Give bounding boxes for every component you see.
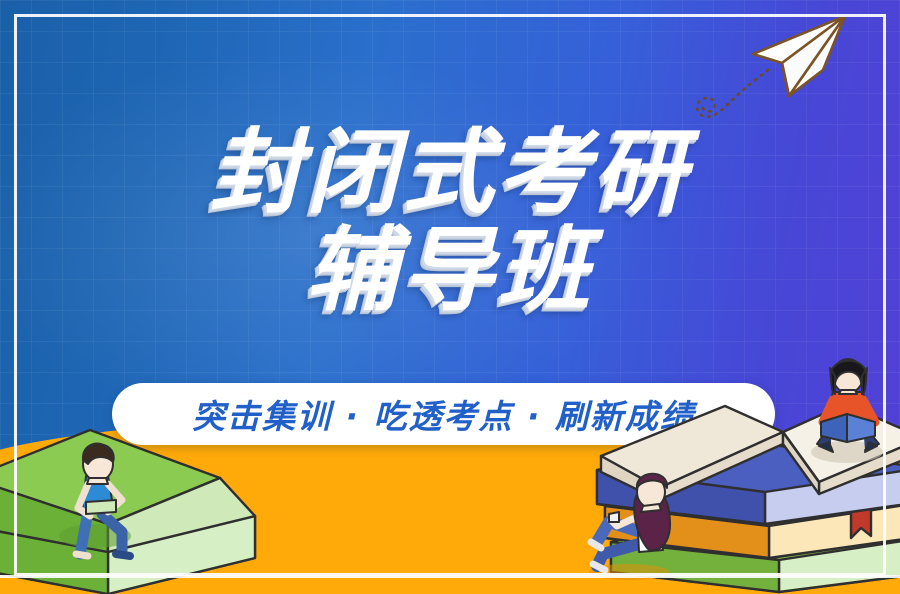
title-line-2: 辅导班 [0,224,900,318]
poster-canvas: 封闭式考研 辅导班 突击集训 · 吃透考点 · 刷新成绩 [0,0,900,594]
ground-baseline [0,575,900,578]
poster-title: 封闭式考研 辅导班 [0,126,900,318]
girl-orange-figure [811,359,883,463]
paper-plane-icon [735,8,855,108]
left-illustration-green-book [0,408,320,594]
title-line-1: 封闭式考研 [0,126,900,220]
right-illustration-book-stack [583,360,900,594]
